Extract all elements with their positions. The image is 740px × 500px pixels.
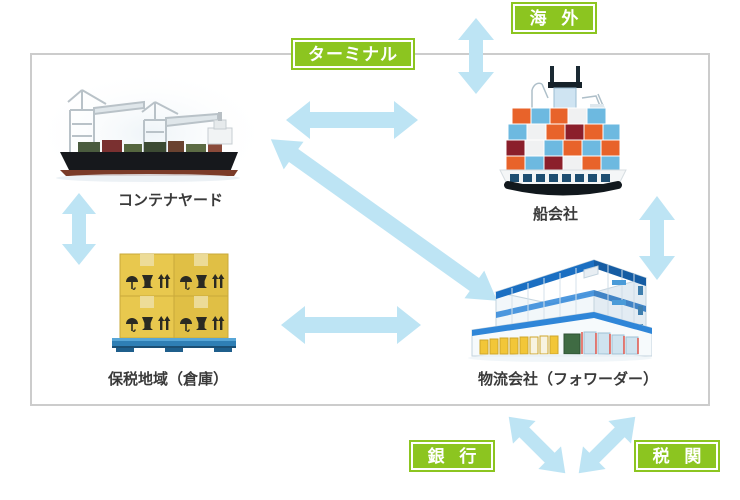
arrow-containeryard-bondedarea [62,193,96,265]
label-ginko: 銀 行 [409,440,495,472]
arrow-forwarder-bank [500,408,574,482]
container-ship-image [492,58,638,198]
arrow-overseas-shipcompany [458,18,494,94]
caption-ship-company: 船会社 [533,203,578,224]
caption-bonded-area: 保税地域（倉庫） [108,368,228,389]
diagram-canvas: ターミナル 海 外 銀 行 税 関 コンテナヤード 船会社 保税地域（倉庫） 物… [0,0,740,500]
label-kaigai-text: 海 外 [525,10,584,27]
label-terminal: ターミナル [291,38,415,70]
caption-container-yard: コンテナヤード [118,189,223,210]
arrow-forwarder-customs [570,408,644,482]
arrow-containeryard-shipcompany [286,101,418,139]
label-kaigai: 海 外 [511,2,597,34]
container-yard-cranes-image [48,72,254,184]
warehouse-building-image [466,248,652,366]
pallet-boxes-image [108,248,240,354]
label-ginko-inner: 銀 行 [411,442,493,470]
label-zeikan-inner: 税 関 [636,442,718,470]
label-terminal-inner: ターミナル [293,40,413,68]
label-terminal-text: ターミナル [308,46,398,63]
label-ginko-text: 銀 行 [423,448,482,465]
label-zeikan-text: 税 関 [648,448,707,465]
arrow-bondedarea-forwarder [281,306,421,344]
label-kaigai-inner: 海 外 [513,4,595,32]
label-zeikan: 税 関 [634,440,720,472]
caption-forwarder: 物流会社（フォワーダー） [478,368,658,389]
